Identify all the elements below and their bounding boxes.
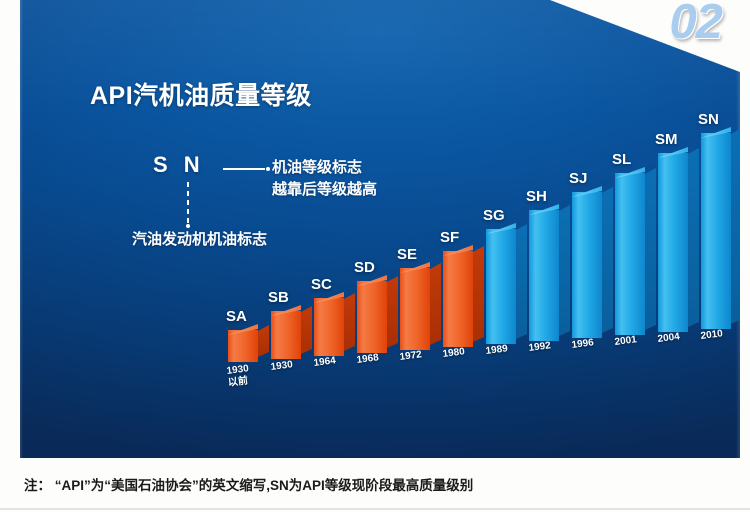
bar-front-face: [443, 251, 473, 347]
bar-grade-label: SM: [655, 131, 678, 148]
bar-front-face: [357, 281, 387, 353]
bar-grade-label: SH: [526, 188, 547, 205]
page-title: API汽机油质量等级: [90, 76, 312, 112]
callout-right-line1: 机油等级标志: [272, 157, 377, 179]
chart-bar: [615, 173, 645, 335]
chart-bar: [529, 210, 559, 341]
bar-year-label: 1972: [399, 349, 423, 364]
bar-year-label: 1930以前: [226, 363, 251, 390]
bar-side-face: [559, 205, 570, 336]
bar-front-face: [615, 173, 645, 335]
bar-year-label: 1996: [571, 337, 595, 352]
bar-grade-label: SN: [698, 111, 719, 128]
bar-side-face: [258, 325, 269, 357]
chart-bar: [400, 268, 430, 350]
bar-year-label: 1989: [485, 343, 509, 358]
bar-side-face: [473, 246, 484, 342]
bar-front-face: [486, 229, 516, 344]
bar-side-face: [387, 276, 398, 348]
callout-right-line2: 越靠后等级越高: [272, 179, 377, 201]
section-number-badge: 02: [669, 0, 722, 50]
bar-year-label: 2004: [657, 331, 681, 346]
chart-bar: [572, 192, 602, 338]
bar-year-label: 1980: [442, 346, 466, 361]
bar-year-label: 2001: [614, 334, 638, 349]
bar-grade-label: SB: [268, 289, 289, 306]
bar-front-face: [701, 133, 731, 329]
bar-front-face: [658, 153, 688, 332]
bar-year-label: 1992: [528, 340, 552, 355]
bar-front-face: [228, 330, 258, 362]
bar-grade-label: SC: [311, 276, 332, 293]
bar-front-face: [400, 268, 430, 350]
bar-year-label: 1968: [356, 352, 380, 367]
bar-grade-label: SF: [440, 229, 459, 246]
callout-leader-horizontal: [223, 168, 265, 170]
bar-side-face: [344, 293, 355, 351]
chart-bar: [357, 281, 387, 353]
bar-grade-label: SJ: [569, 170, 587, 187]
bar-grade-label: SD: [354, 259, 375, 276]
bar-grade-label: SE: [397, 246, 417, 263]
callout-right-text: 机油等级标志 越靠后等级越高: [272, 157, 377, 201]
bar-front-face: [314, 298, 344, 356]
chart-bar: [658, 153, 688, 332]
chart-bar: [228, 330, 258, 362]
bar-front-face: [572, 192, 602, 338]
chart-bar: [271, 311, 301, 359]
footer-divider: [0, 508, 750, 510]
bar-side-face: [688, 148, 699, 327]
bar-grade-label: SL: [612, 151, 631, 168]
bar-year-label: 2010: [700, 328, 724, 343]
chart-bar: [701, 133, 731, 329]
api-grade-bar-chart: SA1930以前SB1930SC1964SD1968SE1972SF1980SG…: [20, 0, 740, 458]
chart-bar: [486, 229, 516, 344]
chart-bar: [314, 298, 344, 356]
bar-side-face: [516, 224, 527, 339]
bar-year-label: 1964: [313, 355, 337, 370]
sn-callout-code: S N: [153, 152, 205, 178]
bar-year-label: 1930: [270, 359, 294, 374]
bar-side-face: [430, 263, 441, 345]
bar-grade-label: SG: [483, 207, 505, 224]
bar-side-face: [301, 306, 312, 354]
footnote: 注： “API”为“美国石油协会”的英文缩写,SN为API等级现阶段最高质量级别: [24, 474, 473, 494]
bar-front-face: [271, 311, 301, 359]
bar-side-face: [645, 168, 656, 330]
bar-grade-label: SA: [226, 308, 247, 325]
callout-leader-vertical: [187, 182, 189, 224]
slide-canvas: 02 API汽机油质量等级 S N 机油等级标志 越靠后等级越高 汽油发动机机油…: [0, 0, 750, 512]
bar-front-face: [529, 210, 559, 341]
callout-bottom-text: 汽油发动机机油标志: [132, 228, 267, 249]
bar-side-face: [602, 187, 613, 333]
bar-side-face: [731, 128, 740, 324]
chart-bar: [443, 251, 473, 347]
content-panel: 02 API汽机油质量等级 S N 机油等级标志 越靠后等级越高 汽油发动机机油…: [20, 0, 740, 458]
